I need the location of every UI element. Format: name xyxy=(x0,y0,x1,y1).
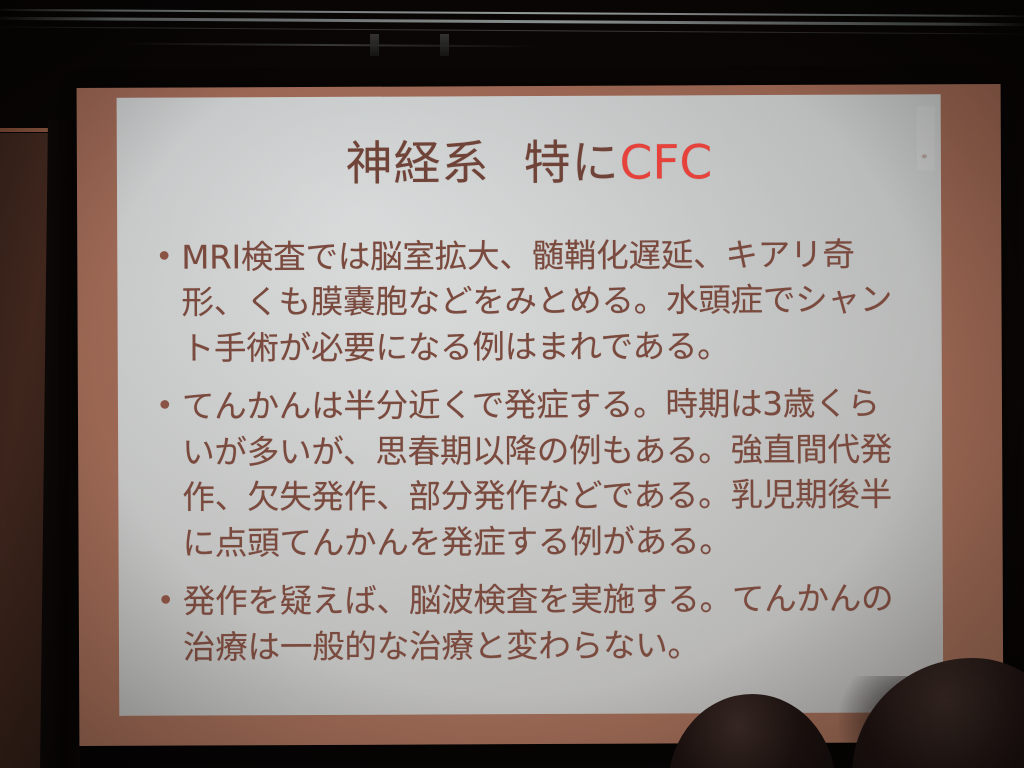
projection-screen-frame: 神経系特にCFC • MRI検査では脳室拡大、髄鞘化遅延、キアリ奇形、くも膜嚢胞… xyxy=(77,84,1004,746)
slide-title-accent: CFC xyxy=(619,135,712,190)
list-item: • MRI検査では脳室拡大、髄鞘化遅延、キアリ奇形、くも膜嚢胞などをみとめる。水… xyxy=(151,232,908,372)
bullet-dot-icon: • xyxy=(152,385,182,429)
bullet-text-eeg: 発作を疑えば、脳波検査を実施する。てんかんの治療は一般的な治療と変わらない。 xyxy=(183,577,909,671)
list-item: • 発作を疑えば、脳波検査を実施する。てんかんの治療は一般的な治療と変わらない。 xyxy=(153,577,909,671)
slide-content: 神経系特にCFC • MRI検査では脳室拡大、髄鞘化遅延、キアリ奇形、くも膜嚢胞… xyxy=(117,94,943,671)
bullet-dot-icon: • xyxy=(151,235,181,279)
lecture-photo: 神経系特にCFC • MRI検査では脳室拡大、髄鞘化遅延、キアリ奇形、くも膜嚢胞… xyxy=(0,0,1024,768)
bullet-text-epilepsy: てんかんは半分近くで発症する。時期は3歳くらいが多いが、思春期以降の例もある。強… xyxy=(182,382,909,567)
bullet-dot-icon: • xyxy=(153,580,183,624)
ceiling-bracket-icon xyxy=(370,34,379,56)
slide-title-middle: 特に xyxy=(523,136,619,191)
slide-title: 神経系特にCFC xyxy=(151,136,907,191)
list-item: • てんかんは半分近くで発症する。時期は3歳くらいが多いが、思春期以降の例もある… xyxy=(152,382,909,567)
wall-panel-edge xyxy=(0,128,52,132)
ceiling-bracket-icon xyxy=(440,34,449,56)
slide-bullet-list: • MRI検査では脳室拡大、髄鞘化遅延、キアリ奇形、くも膜嚢胞などをみとめる。水… xyxy=(151,232,909,671)
bullet-text-mri: MRI検査では脳室拡大、髄鞘化遅延、キアリ奇形、くも膜嚢胞などをみとめる。水頭症… xyxy=(181,232,908,372)
slide-title-main: 神経系 xyxy=(345,136,489,192)
presentation-slide: 神経系特にCFC • MRI検査では脳室拡大、髄鞘化遅延、キアリ奇形、くも膜嚢胞… xyxy=(117,94,944,716)
